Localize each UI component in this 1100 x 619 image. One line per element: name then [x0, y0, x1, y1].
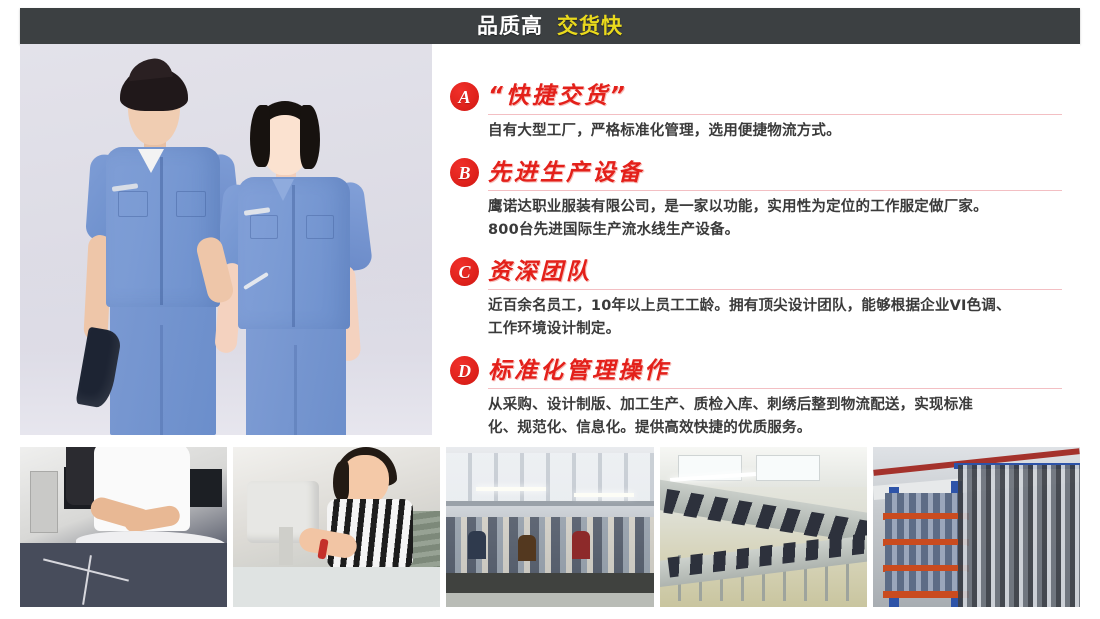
feature-d-header: D 标准化管理操作 [450, 356, 1062, 385]
feature-d-line-2: 化、规范化、信息化。提供高效快捷的优质服务。 [488, 417, 1062, 439]
sewing-table [233, 567, 440, 607]
feature-c-header: C 资深团队 [450, 257, 1062, 286]
ceiling-lamp-2 [574, 493, 634, 497]
product-detail-page: 品质高 交货快 [0, 0, 1100, 619]
banner-title-highlight: 交货快 [557, 10, 623, 40]
fabric-roll [20, 543, 227, 607]
feature-c-body: 近百余名员工，10年以上员工工龄。拥有顶尖设计团队，能够根据企业VI色调、 工作… [488, 295, 1062, 340]
feature-d-line-1: 从采购、设计制版、加工生产、质检入库、刺绣后整到物流配送，实现标准 [488, 394, 1062, 416]
sewing-operator-photo [233, 447, 440, 607]
stored-goods-2 [885, 519, 967, 539]
stored-goods-3 [885, 545, 967, 565]
badge-letter-b-icon: B [450, 158, 479, 187]
production-floor-photo [446, 447, 653, 607]
badge-letter-c-icon: C [450, 257, 479, 286]
male-uniform-trousers [110, 295, 216, 435]
badge-letter-d-icon: D [450, 356, 479, 385]
female-chest-pocket-left [250, 215, 278, 239]
hero-uniform-photo [20, 44, 432, 435]
feature-item-b: B 先进生产设备 鹰诺达职业服装有限公司，是一家以功能，实用性为定位的工作服定做… [450, 158, 1062, 241]
feature-b-header: B 先进生产设备 [450, 158, 1062, 187]
male-chest-pocket-right [176, 191, 206, 217]
male-jacket-placket [160, 157, 163, 305]
female-hair-side-left [250, 105, 270, 167]
female-uniform-trousers [246, 319, 346, 435]
hero-row: A “快捷交货” 自有大型工厂，严格标准化管理，选用便捷物流方式。 B 先进生产… [20, 44, 1080, 435]
feature-c-divider [488, 289, 1062, 290]
conveyor-line-photo [660, 447, 867, 607]
feature-b-line-2: 800台先进国际生产流水线生产设备。 [488, 219, 1062, 241]
female-model-figure [216, 83, 374, 435]
cutting-workshop-photo [20, 447, 227, 607]
rack-shelf-4 [883, 591, 969, 598]
feature-b-line-1: 鹰诺达职业服装有限公司，是一家以功能，实用性为定位的工作服定做厂家。 [488, 196, 1062, 218]
section-banner: 品质高 交货快 [20, 8, 1080, 44]
feature-item-c: C 资深团队 近百余名员工，10年以上员工工龄。拥有顶尖设计团队，能够根据企业V… [450, 257, 1062, 340]
worker-3 [572, 531, 590, 559]
feature-d-body: 从采购、设计制版、加工生产、质检入库、刺绣后整到物流配送，实现标准 化、规范化、… [488, 394, 1062, 439]
female-chest-pocket-right [306, 215, 334, 239]
male-hair [120, 67, 188, 111]
feature-c-line-1: 近百余名员工，10年以上员工工龄。拥有顶尖设计团队，能够根据企业VI色调、 [488, 295, 1062, 317]
banner-title-group: 品质高 交货快 [477, 10, 623, 40]
feature-a-header: A “快捷交货” [450, 82, 1062, 111]
female-jacket-placket [292, 185, 295, 327]
stored-goods-4 [885, 571, 967, 591]
male-chest-pocket-left [118, 191, 148, 217]
banner-title-primary: 品质高 [477, 10, 543, 40]
female-hair-side-right [300, 105, 320, 169]
factory-floor [446, 593, 653, 607]
feature-a-body: 自有大型工厂，严格标准化管理，选用便捷物流方式。 [488, 120, 1062, 142]
pc-tower [30, 471, 58, 533]
worker-2 [518, 535, 536, 561]
feature-b-body: 鹰诺达职业服装有限公司，是一家以功能，实用性为定位的工作服定做厂家。 800台先… [488, 196, 1062, 241]
male-uniform-jacket [106, 147, 220, 307]
stored-goods-1 [885, 493, 967, 513]
warehouse-racks-photo [873, 447, 1080, 607]
work-bench [446, 573, 653, 595]
operator-hair-side [333, 461, 349, 501]
hanging-garments [958, 465, 1080, 607]
factory-photo-strip [20, 447, 1080, 607]
feature-c-title: 资深团队 [488, 260, 592, 284]
feature-item-d: D 标准化管理操作 从采购、设计制版、加工生产、质检入库、刺绣后整到物流配送，实… [450, 356, 1062, 439]
sewing-machine-arm [279, 527, 293, 565]
feature-a-title: “快捷交货” [488, 84, 628, 108]
feature-c-line-2: 工作环境设计制定。 [488, 318, 1062, 340]
feature-b-title: 先进生产设备 [488, 161, 644, 185]
feature-item-a: A “快捷交货” 自有大型工厂，严格标准化管理，选用便捷物流方式。 [450, 82, 1062, 142]
features-panel: A “快捷交货” 自有大型工厂，严格标准化管理，选用便捷物流方式。 B 先进生产… [432, 44, 1080, 435]
badge-letter-a-icon: A [450, 82, 479, 111]
feature-d-title: 标准化管理操作 [488, 359, 670, 383]
feature-d-divider [488, 388, 1062, 389]
feature-b-divider [488, 190, 1062, 191]
feature-a-line-1: 自有大型工厂，严格标准化管理，选用便捷物流方式。 [488, 120, 1062, 142]
feature-a-divider [488, 114, 1062, 115]
conveyor-window-2 [756, 455, 820, 481]
ceiling-lamp-1 [476, 487, 546, 491]
ceiling-beam [446, 501, 653, 506]
worker-1 [468, 531, 486, 559]
